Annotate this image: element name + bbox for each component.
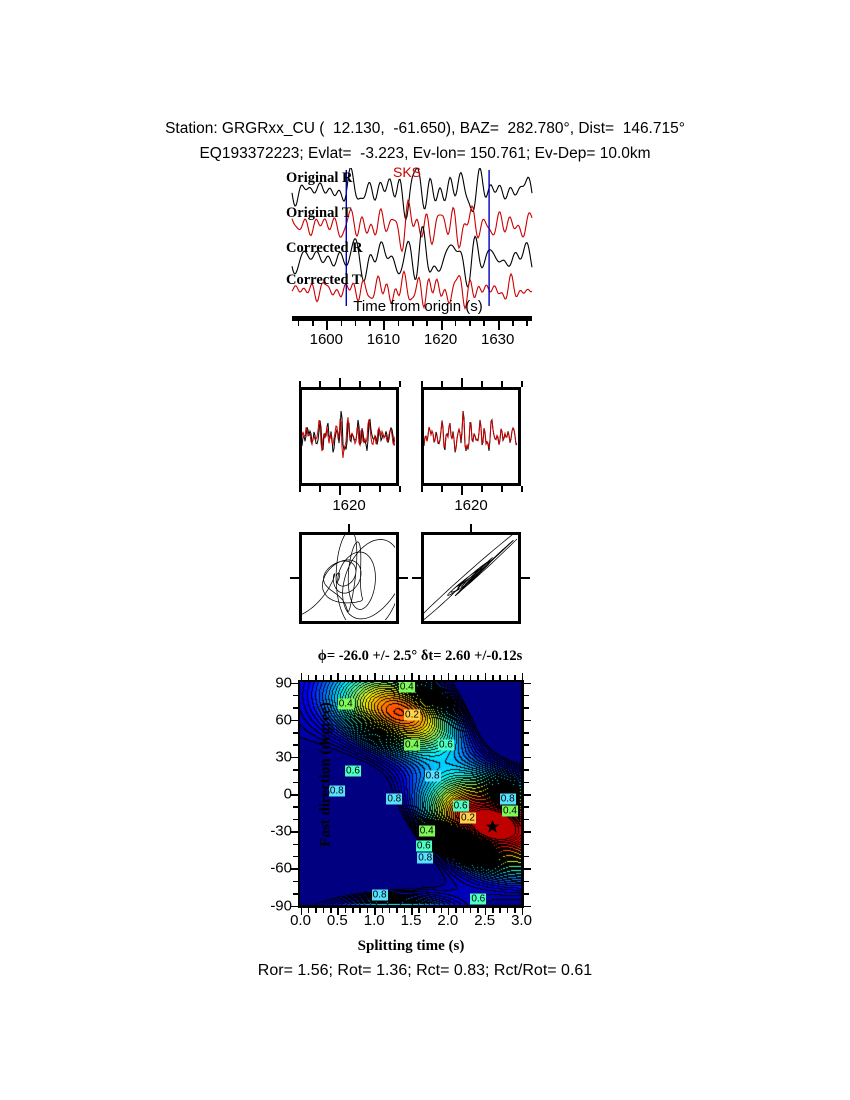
figure-header: Station: GRGRxx_CU ( 12.130, -61.650), B…	[0, 116, 850, 166]
y-tick-right	[524, 695, 529, 697]
x-tick	[522, 908, 524, 915]
uncorrected-pm-tick-left	[290, 577, 299, 579]
x-tick-top	[315, 675, 317, 680]
y-tick	[293, 819, 298, 821]
y-tick-right	[524, 732, 529, 734]
contour-label: 0.8	[417, 852, 433, 863]
trace-label-original-t: Original T	[286, 205, 351, 222]
x-tick	[359, 908, 361, 913]
y-tick	[293, 769, 298, 771]
uncorrected-fast-slow-ticks-bottom	[299, 486, 399, 495]
time-tick-label: 1620	[424, 331, 457, 348]
contour-result-title: ϕ= -26.0 +/- 2.5° δt= 2.60 +/-0.12s	[260, 648, 580, 665]
x-tick-top	[323, 675, 325, 680]
y-tick	[293, 744, 298, 746]
contour-label: 0.4	[502, 805, 518, 816]
contour-label: 0.2	[460, 813, 476, 824]
y-tick-right	[524, 720, 531, 722]
quality-metrics-footer: Ror= 1.56; Rot= 1.36; Rct= 0.83; Rct/Rot…	[0, 962, 850, 980]
x-tick	[507, 908, 509, 913]
y-tick	[291, 720, 298, 722]
x-tick	[418, 908, 420, 913]
contour-label: 0.6	[453, 800, 469, 811]
x-tick-top	[499, 675, 501, 680]
time-tick-label: 1600	[310, 331, 343, 348]
x-tick-top	[396, 675, 398, 680]
y-tick-right	[524, 744, 529, 746]
uncorrected-fast-slow-waveforms	[302, 390, 395, 482]
corrected-particle-motion-trace	[424, 535, 517, 620]
x-tick-top	[455, 675, 457, 680]
x-tick-top	[448, 673, 450, 680]
y-tick-right	[524, 893, 529, 895]
contour-label: 0.8	[386, 793, 402, 804]
x-tick	[308, 908, 310, 913]
x-tick-top	[389, 675, 391, 680]
x-tick	[389, 908, 391, 913]
y-tick-right	[524, 856, 529, 858]
x-tick	[441, 908, 443, 913]
y-tick-label: -60	[270, 860, 292, 877]
y-tick	[293, 893, 298, 895]
contour-label: 0.4	[399, 682, 415, 693]
x-tick-top	[418, 675, 420, 680]
x-tick	[337, 908, 339, 915]
x-tick-top	[352, 675, 354, 680]
x-tick	[426, 908, 428, 913]
y-tick	[293, 782, 298, 784]
trace-label-corrected-r: Corrected R	[286, 240, 363, 257]
y-tick-right	[524, 769, 529, 771]
time-axis-title: Time from origin (s)	[283, 298, 553, 315]
y-tick	[291, 683, 298, 685]
uncorrected-pm-tick-right	[399, 577, 408, 579]
splitting-analysis-figure: Station: GRGRxx_CU ( 12.130, -61.650), B…	[0, 0, 850, 1100]
y-tick	[293, 806, 298, 808]
event-info-line: EQ193372223; Evlat= -3.223, Ev-lon= 150.…	[0, 141, 850, 166]
y-tick	[293, 695, 298, 697]
star-icon	[485, 819, 500, 834]
corrected-fast-slow-waveforms	[424, 390, 517, 482]
x-tick-top	[441, 675, 443, 680]
contour-label: 0.4	[338, 699, 354, 710]
x-tick-top	[433, 675, 435, 680]
corrected-fast-slow-label: 1620	[411, 497, 531, 514]
y-tick-label: 60	[275, 711, 292, 728]
x-tick	[396, 908, 398, 913]
panel-corrected-particle-motion	[421, 532, 521, 624]
x-tick-top	[374, 673, 376, 680]
x-tick	[455, 908, 457, 913]
y-tick-label: -90	[270, 897, 292, 914]
x-tick	[485, 908, 487, 915]
time-tick-label: 1610	[367, 331, 400, 348]
y-tick-label: -30	[270, 823, 292, 840]
x-tick	[404, 908, 406, 913]
uncorrected-fast-slow-label: 1620	[289, 497, 409, 514]
contour-label: 0.6	[438, 740, 454, 751]
x-tick-top	[301, 673, 303, 680]
x-tick	[374, 908, 376, 915]
y-tick-right	[524, 831, 531, 833]
y-tick-right	[524, 757, 531, 759]
x-tick	[301, 908, 303, 915]
y-tick-right	[524, 819, 529, 821]
y-tick	[293, 732, 298, 734]
contour-label: 0.4	[404, 740, 420, 751]
contour-label: 0.6	[345, 766, 361, 777]
y-tick	[293, 844, 298, 846]
solution-star-marker	[485, 819, 500, 839]
x-tick	[477, 908, 479, 913]
uncorrected-particle-motion-trace	[302, 535, 395, 620]
x-tick-top	[492, 675, 494, 680]
x-tick-top	[404, 675, 406, 680]
x-tick-top	[359, 675, 361, 680]
y-tick-right	[524, 782, 529, 784]
y-tick-right	[524, 794, 531, 796]
contour-x-axis-label: Splitting time (s)	[261, 938, 561, 955]
x-tick-top	[337, 673, 339, 680]
x-tick-top	[514, 675, 516, 680]
x-tick-top	[426, 675, 428, 680]
contour-label: 0.4	[419, 825, 435, 836]
y-tick	[293, 707, 298, 709]
x-tick-top	[411, 673, 413, 680]
y-tick-right	[524, 906, 531, 908]
panel-uncorrected-particle-motion	[299, 532, 399, 624]
trace-label-corrected-t: Corrected T	[286, 272, 362, 289]
x-tick-top	[507, 675, 509, 680]
contour-panel: 0.40.40.20.40.60.60.80.80.80.80.60.40.20…	[298, 680, 524, 908]
y-tick-right	[524, 683, 531, 685]
y-tick-right	[524, 868, 531, 870]
x-tick	[345, 908, 347, 913]
y-tick	[291, 757, 298, 759]
x-tick	[330, 908, 332, 913]
y-tick	[291, 794, 298, 796]
y-tick	[293, 856, 298, 858]
contour-y-axis-label: Fast direction (degree)	[318, 685, 335, 865]
y-tick-label: 30	[275, 748, 292, 765]
x-tick	[433, 908, 435, 913]
x-tick	[352, 908, 354, 913]
x-tick	[411, 908, 413, 915]
y-tick	[291, 906, 298, 908]
contour-label: 0.8	[372, 890, 388, 901]
time-axis-ticks	[292, 321, 532, 330]
corrected-pm-tick-left	[412, 577, 421, 579]
y-tick	[291, 831, 298, 833]
x-tick	[463, 908, 465, 913]
corrected-fast-slow-ticks-bottom	[421, 486, 521, 495]
uncorrected-fast-slow-ticks	[299, 378, 399, 387]
contour-label: 0.6	[416, 840, 432, 851]
contour-label: 0.2	[404, 710, 420, 721]
x-tick-top	[485, 673, 487, 680]
x-tick	[448, 908, 450, 915]
x-tick	[470, 908, 472, 913]
y-tick	[291, 868, 298, 870]
x-tick	[492, 908, 494, 913]
x-tick-top	[308, 675, 310, 680]
x-tick-top	[470, 675, 472, 680]
trace-label-original-r: Original R	[286, 170, 352, 187]
y-tick-label: 90	[275, 674, 292, 691]
station-info-line: Station: GRGRxx_CU ( 12.130, -61.650), B…	[0, 116, 850, 141]
uncorrected-pm-tick-top	[348, 524, 350, 533]
corrected-pm-tick-right	[521, 577, 530, 579]
x-tick	[499, 908, 501, 913]
sks-phase-label: SKS	[393, 164, 421, 180]
x-tick-top	[522, 673, 524, 680]
x-tick	[323, 908, 325, 913]
panel-uncorrected-fast-slow	[299, 387, 399, 486]
x-tick-top	[345, 675, 347, 680]
x-tick-top	[382, 675, 384, 680]
panel-corrected-fast-slow	[421, 387, 521, 486]
x-tick	[367, 908, 369, 913]
x-tick	[382, 908, 384, 913]
x-tick-top	[367, 675, 369, 680]
y-tick	[293, 881, 298, 883]
time-tick-label: 1630	[481, 331, 514, 348]
y-tick-right	[524, 844, 529, 846]
corrected-fast-slow-ticks	[421, 378, 521, 387]
x-tick-top	[330, 675, 332, 680]
time-axis-tick-labels: 1600161016201630	[272, 331, 562, 353]
contour-label: 0.8	[500, 793, 516, 804]
y-tick-right	[524, 881, 529, 883]
x-tick-top	[463, 675, 465, 680]
x-tick	[514, 908, 516, 913]
y-tick-right	[524, 806, 529, 808]
contour-label: 0.6	[470, 893, 486, 904]
x-tick-top	[477, 675, 479, 680]
contour-label: 0.8	[425, 771, 441, 782]
y-tick-right	[524, 707, 529, 709]
x-tick	[315, 908, 317, 913]
corrected-pm-tick-top	[470, 524, 472, 533]
